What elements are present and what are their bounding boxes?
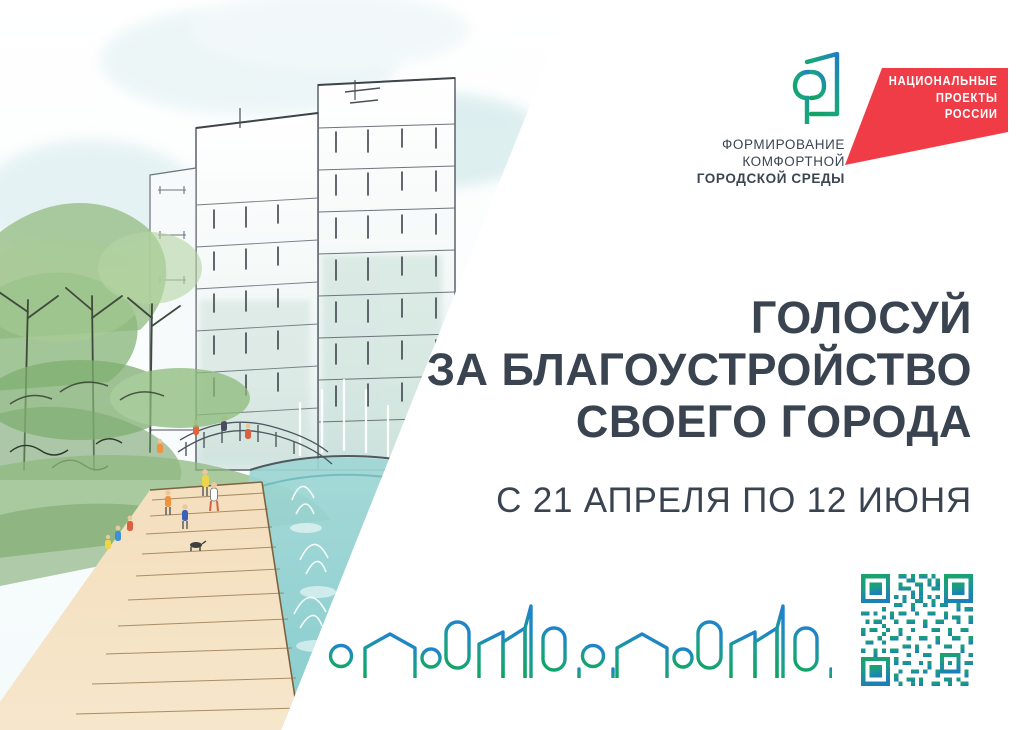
brand-logo-fkgs: ФОРМИРОВАНИЕ КОМФОРТНОЙ ГОРОДСКОЙ СРЕДЫ: [685, 52, 845, 187]
headline-line-2: ЗА БЛАГОУСТРОЙСТВО: [412, 344, 972, 396]
brand-logo-line-2: КОМФОРТНОЙ: [685, 153, 845, 170]
np-line-1: НАЦИОНАЛЬНЫЕ: [889, 73, 998, 90]
np-line-3: РОССИИ: [889, 106, 998, 123]
qr-code[interactable]: [857, 570, 977, 690]
national-projects-logo: НАЦИОНАЛЬНЫЕ ПРОЕКТЫ РОССИИ: [840, 60, 1010, 170]
qr-code-icon[interactable]: [857, 570, 977, 690]
brand-logo-line-1: ФОРМИРОВАНИЕ: [685, 136, 845, 153]
headline-line-3: СВОЕГО ГОРОДА: [412, 396, 972, 448]
brand-logo-line-3: ГОРОДСКОЙ СРЕДЫ: [685, 170, 845, 187]
headline-line-1: ГОЛОСУЙ: [412, 292, 972, 344]
np-line-2: ПРОЕКТЫ: [889, 90, 998, 107]
building-window-logo-icon: [787, 52, 845, 124]
headline-block: ГОЛОСУЙ ЗА БЛАГОУСТРОЙСТВО СВОЕГО ГОРОДА: [412, 292, 972, 448]
date-range-text: С 21 АПРЕЛЯ ПО 12 ИЮНЯ: [412, 480, 972, 522]
national-projects-text: НАЦИОНАЛЬНЫЕ ПРОЕКТЫ РОССИИ: [889, 73, 998, 123]
poster-root: ФОРМИРОВАНИЕ КОМФОРТНОЙ ГОРОДСКОЙ СРЕДЫ …: [0, 0, 1024, 730]
city-skyline-line-art-icon: [327, 598, 832, 678]
city-skyline-graphic: [327, 598, 832, 678]
right-content-panel: ФОРМИРОВАНИЕ КОМФОРТНОЙ ГОРОДСКОЙ СРЕДЫ …: [572, 0, 1024, 730]
